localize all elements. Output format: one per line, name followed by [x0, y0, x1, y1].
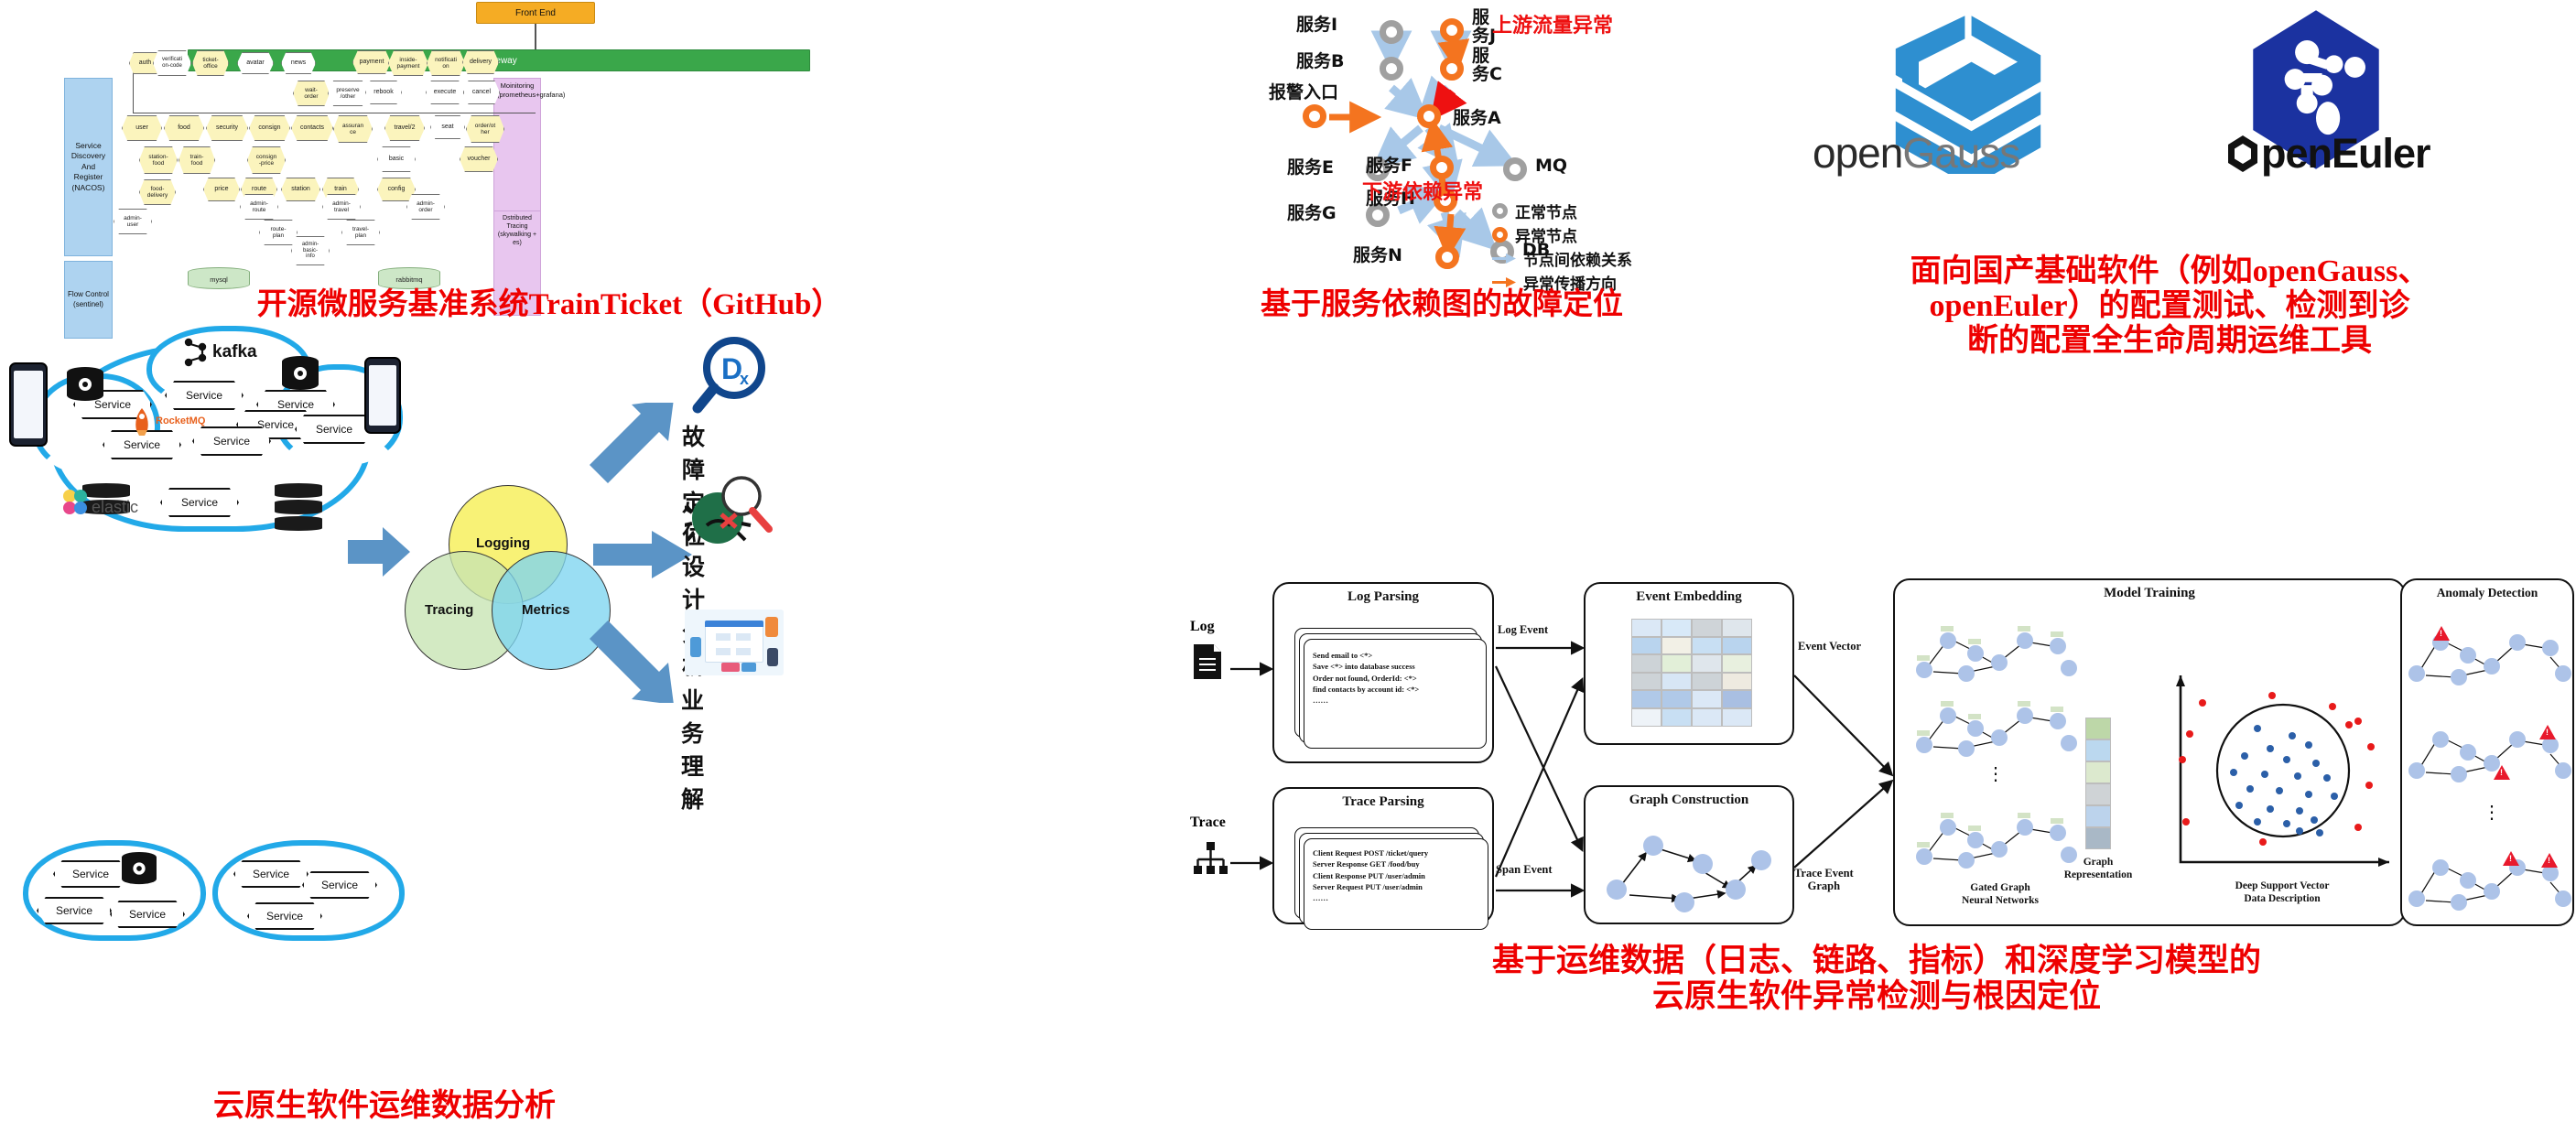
database-cylinder [275, 483, 322, 498]
stage-trace-parsing: Trace Parsing Client Request POST /ticke… [1272, 787, 1494, 924]
connector [535, 24, 536, 49]
dependency-graph-legend: 正常节点 异常节点 节点间依赖关系 异常传播方向 [1492, 200, 1739, 295]
graph-representation-vector [2085, 718, 2111, 849]
gateway-box: Gateway [188, 49, 810, 71]
edge-label-span-event: Span Event [1496, 864, 1552, 877]
label-alarm-entry: 报警入口 [1269, 84, 1338, 103]
service-hex: Service [192, 426, 271, 456]
service-discovery-sidebar: Service Discovery And Register (NACOS) [64, 78, 113, 256]
service-hex: Service [37, 897, 112, 924]
service-node: station- food [139, 146, 178, 174]
service-node: route- plan [259, 220, 298, 245]
mobile-device-left [9, 362, 48, 447]
service-hex: Service [110, 901, 185, 928]
vertical-ellipsis: ⋮ [1986, 771, 2005, 779]
service-node: travel- plan [341, 220, 380, 245]
service-node: consign [249, 115, 290, 141]
service-node: admin- user [114, 209, 152, 234]
output-arrow-1 [586, 403, 687, 485]
service-node: rebook [365, 81, 402, 104]
svg-text:x: x [740, 370, 749, 388]
service-node: inside- payment [388, 50, 428, 76]
edge-label-trace-event-graph: Trace Event Graph [1794, 868, 1854, 893]
kafka-icon [179, 337, 211, 368]
anomaly-warning-icon [2541, 853, 2558, 868]
opengauss-wordmark: openGauss [1813, 128, 2019, 178]
bug-magnifier-icon [685, 472, 776, 556]
anomaly-warning-icon [2503, 851, 2519, 866]
service-node: config [377, 178, 416, 201]
vertical-ellipsis: ⋮ [2483, 809, 2501, 817]
edge-label-log-event: Log Event [1498, 624, 1548, 637]
poster-root: Front End Gateway Service Discovery And … [0, 0, 2576, 1144]
front-end-box: Front End [476, 2, 595, 24]
service-node: travel/2 [384, 115, 425, 141]
mysql-database: mysql [188, 267, 250, 289]
elastic-label: elastic [92, 498, 138, 517]
stage-title: Trace Parsing [1274, 794, 1492, 810]
service-hex: Service [233, 860, 308, 888]
legend-abnormal-node: 异常节点 [1492, 223, 1739, 246]
input-arrow [348, 522, 412, 586]
service-dependency-graph-panel: 服务I 服 务J 服务B 服 务C 报警入口 服务A 服务E 服务F MQ 服务… [1126, 0, 1803, 293]
input-label-trace: Trace [1190, 815, 1226, 831]
trainticket-caption: 开源微服务基准系统TrainTicket（GitHub） [9, 288, 1089, 322]
label-svcB: 服务B [1296, 53, 1344, 71]
annotation-downstream-anomaly: 下游依赖异常 [1362, 176, 1483, 205]
logos-panel: openGauss penEuler [1794, 0, 2576, 275]
output-label-business-understanding: 业务理解 [681, 683, 704, 815]
stage-event-embedding: Event Embedding [1584, 582, 1794, 745]
trainticket-architecture-panel: Front End Gateway Service Discovery And … [0, 0, 1190, 293]
orange-arrow-icon [1492, 276, 1516, 288]
service-node: admin- order [406, 194, 445, 220]
trace-template-lines: Client Request POST /ticket/query Server… [1313, 847, 1492, 904]
sublabel-graph-representation: Graph Representation [2047, 857, 2149, 882]
service-node: execute [426, 81, 464, 104]
ggnn-graph-2 [1915, 696, 2080, 760]
blue-arrow-icon [1492, 253, 1516, 264]
label-svcG: 服务G [1287, 205, 1337, 223]
service-hex: Service [247, 902, 322, 930]
service-hex: Service [165, 381, 244, 410]
edge-label-event-vector: Event Vector [1798, 641, 1861, 653]
venn-tracing-label: Tracing [425, 602, 473, 618]
stage-anomaly-detection: Anomaly Detection [2400, 578, 2574, 926]
elastic-icon [60, 489, 90, 516]
connector [133, 113, 536, 113]
normal-node-icon [1492, 203, 1508, 219]
container-icon [119, 851, 159, 886]
service-node: wait- order [293, 81, 330, 106]
node-svcI[interactable] [1380, 20, 1403, 44]
service-node: ticket- office [192, 50, 229, 76]
node-alarm-entry[interactable] [1303, 104, 1326, 128]
service-hex: Service [302, 871, 377, 899]
service-node: admin- route [240, 194, 278, 220]
svdd-scatter [2170, 668, 2398, 891]
container-icon [279, 355, 321, 392]
anomaly-warning-icon [2539, 725, 2556, 739]
service-node: train- food [179, 146, 215, 174]
database-cylinder [275, 500, 322, 514]
service-hex: Service [295, 415, 373, 444]
mobile-device-right [364, 357, 401, 434]
input-label-log: Log [1190, 619, 1215, 635]
service-node: payment [352, 50, 391, 74]
container-icon [64, 366, 106, 403]
service-node: notificati on [427, 50, 465, 76]
service-node: verificati on-code [153, 50, 191, 76]
venn-metrics-label: Metrics [522, 602, 570, 618]
service-node: seat [430, 115, 465, 139]
stage-title: Anomaly Detection [2402, 586, 2572, 600]
graph-construction-sketch [1586, 818, 1796, 919]
service-node: basic [377, 146, 416, 172]
magnifier-dx-icon: D x [688, 335, 773, 419]
business-illustration-icon [685, 610, 784, 675]
venn-logging-label: Logging [476, 535, 530, 551]
label-svcC: 服 务C [1472, 48, 1502, 84]
stage-graph-construction: Graph Construction [1584, 785, 1794, 924]
cloud-outline-small-left [23, 840, 206, 941]
service-node: admin- travel [322, 194, 361, 220]
legend-normal-node: 正常节点 [1492, 200, 1739, 222]
node-svcJ[interactable] [1440, 18, 1464, 42]
service-node: cancel [463, 81, 500, 104]
sublabel-ggnn: Gated Graph Neural Networks [1913, 882, 2087, 908]
stage-title: Graph Construction [1586, 793, 1792, 808]
node-svcA[interactable] [1417, 104, 1441, 128]
service-node: station [281, 178, 320, 201]
log-template-lines: Send email to <*> Save <*> into database… [1313, 650, 1487, 707]
service-node: security [206, 115, 248, 141]
logos-caption: 面向国产基础软件（例如openGauss、 openEuler）的配置测试、检测… [1767, 254, 2572, 359]
depgraph-caption: 基于服务依赖图的故障定位 [1121, 288, 1762, 322]
stage-title: Log Parsing [1274, 589, 1492, 605]
pipeline-caption: 基于运维数据（日志、链路、指标）和深度学习模型的 云原生软件异常检测与根因定位 [1190, 943, 2563, 1014]
openeuler-wordmark: penEuler [2224, 130, 2430, 178]
service-node: contacts [291, 115, 333, 141]
phone-screen [369, 365, 396, 426]
service-hex: Service [160, 488, 239, 517]
annotation-upstream-anomaly: 上游流量异常 [1492, 9, 1613, 38]
service-node: food- delivery [139, 179, 176, 205]
service-node: order/ot her [466, 115, 504, 143]
stage-title: Model Training [1895, 586, 2404, 601]
phone-screen [14, 371, 43, 438]
openeuler-o-icon [2224, 134, 2261, 174]
embedding-matrix [1631, 619, 1752, 727]
ml-pipeline-panel: Log Trace Log Parsing Send email to <*> … [1190, 566, 2576, 932]
stage-model-training: Model Training [1893, 578, 2406, 926]
node-svcB[interactable] [1380, 57, 1403, 81]
service-node: delivery [462, 50, 499, 74]
service-node: admin- basic- info [291, 236, 330, 265]
label-svcE: 服务E [1287, 159, 1334, 178]
label-svcI: 服务I [1296, 16, 1337, 35]
cloud-native-panel: Service Service Service Service Service … [0, 318, 696, 1144]
ggnn-graph-1 [1915, 621, 2080, 685]
tree-icon [1192, 840, 1228, 877]
service-node: voucher [460, 146, 498, 172]
node-svcC[interactable] [1440, 57, 1464, 81]
abnormal-node-icon [1492, 227, 1508, 243]
anomaly-graph-1 [2408, 622, 2572, 692]
service-node: food [164, 115, 204, 141]
service-node: price [203, 178, 240, 201]
kafka-label: kafka [212, 342, 257, 362]
sublabel-svdd: Deep Support Vector Data Description [2168, 880, 2397, 906]
rocketmq-icon [130, 408, 154, 436]
cloudnative-caption: 云原生软件运维数据分析 [64, 1089, 705, 1124]
service-node: avatar [237, 52, 274, 74]
node-svcN[interactable] [1435, 245, 1459, 269]
rabbitmq-database: rabbitmq [378, 267, 440, 289]
rocketmq-label: RocketMQ [156, 416, 205, 426]
node-mq[interactable] [1503, 157, 1527, 181]
document-icon [1192, 642, 1223, 681]
stage-title: Event Embedding [1586, 589, 1792, 605]
anomaly-warning-icon [2494, 765, 2510, 780]
label-svcF: 服务F [1366, 157, 1412, 176]
stage-log-parsing: Log Parsing Send email to <*> Save <*> i… [1272, 582, 1494, 763]
anomaly-warning-icon [2433, 626, 2450, 641]
label-svcN: 服务N [1353, 247, 1402, 265]
service-node: preserve /other [328, 81, 368, 106]
database-cylinder [275, 516, 322, 531]
service-node: consign -price [247, 146, 286, 174]
service-node: news [281, 52, 316, 74]
output-arrow-2 [593, 529, 694, 580]
output-arrow-3 [586, 621, 687, 703]
label-mq: MQ [1535, 157, 1567, 176]
service-node: user [122, 115, 162, 141]
legend-dependency-arrow: 节点间依赖关系 [1492, 247, 1739, 270]
label-svcA: 服务A [1453, 110, 1501, 128]
service-hex: Service [53, 860, 128, 888]
service-node: assuran ce [333, 115, 373, 143]
